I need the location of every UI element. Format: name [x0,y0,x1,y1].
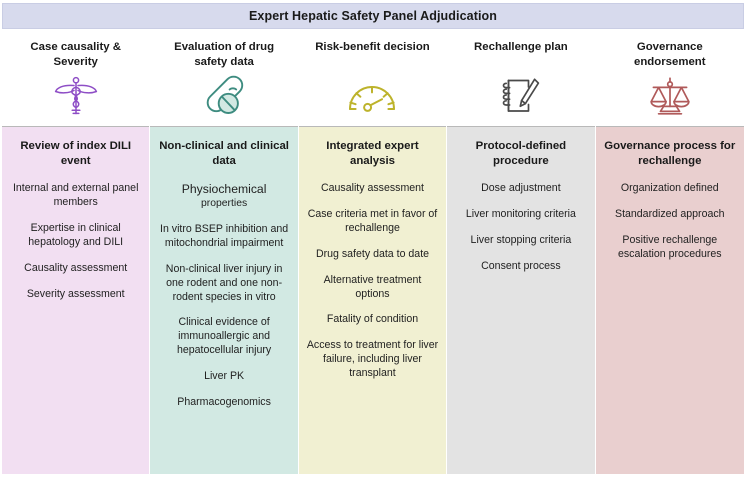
list-item: Pharmacogenomics [175,396,273,410]
column-head-label: Risk-benefit decision [309,40,436,70]
figure-title-band: Expert Hepatic Safety Panel Adjudication [2,3,744,29]
column-subtitle: Non-clinical and clinical data [155,139,292,169]
list-item: Expertise in clinical hepatology and DIL… [7,222,144,250]
column-body-risk-benefit-decision: Integrated expert analysis Causality ass… [299,127,446,474]
column-subtitle: Integrated expert analysis [304,139,441,169]
list-item: In vitro BSEP inhibition and mitochondri… [155,223,292,251]
column-case-causality-severity: Case causality & Severity Review o [2,31,150,474]
list-item: Causality assessment [22,262,129,276]
gauge-icon [345,73,399,119]
list-item: Positive rechallenge escalation procedur… [601,234,739,262]
column-head-label: Case causality & Severity [2,40,149,70]
column-body-governance-endorsement: Governance process for rechallenge Organ… [596,127,744,474]
list-item: Consent process [479,260,563,274]
caduceus-icon [49,73,103,119]
list-item: Internal and external panel members [7,182,144,210]
list-item: properties [199,197,249,211]
list-item: Drug safety data to date [314,248,431,262]
list-item: Causality assessment [319,182,426,196]
list-item: Fatality of condition [325,313,420,327]
column-header-rechallenge-plan: Rechallenge plan [447,31,594,127]
pills-icon [197,73,251,119]
column-body-case-causality-severity: Review of index DILI event Internal and … [2,127,149,474]
list-item: Physiochemical [180,182,269,197]
figure-title: Expert Hepatic Safety Panel Adjudication [249,9,497,23]
column-header-governance-endorsement: Governance endorsement [596,31,744,127]
list-item: Clinical evidence of immunoallergic and … [155,316,292,358]
expert-hepatic-safety-panel-figure: Expert Hepatic Safety Panel Adjudication… [0,0,746,479]
column-header-case-causality-severity: Case causality & Severity [2,31,149,127]
list-item: Severity assessment [25,288,127,302]
column-rechallenge-plan: Rechallenge plan Prot [447,31,595,474]
column-head-label: Governance endorsement [596,40,744,70]
list-item: Liver monitoring criteria [464,208,578,222]
list-item: Liver stopping criteria [469,234,574,248]
column-evaluation-of-drug-safety-data: Evaluation of drug safety data Non-clini… [150,31,298,474]
column-body-evaluation-of-drug-safety-data: Non-clinical and clinical data Physioche… [150,127,297,474]
list-item: Case criteria met in favor of rechalleng… [304,208,441,236]
list-item: Standardized approach [613,208,727,222]
list-item: Liver PK [202,370,246,384]
notepad-pencil-icon [494,73,548,119]
list-item: Non-clinical liver injury in one rodent … [155,263,292,305]
columns-container: Case causality & Severity Review o [2,31,744,474]
column-subtitle: Review of index DILI event [7,139,144,169]
column-risk-benefit-decision: Risk-benefit decision [299,31,447,474]
column-governance-endorsement: Governance endorsement [596,31,744,474]
list-item: Access to treatment for liver failure, i… [304,339,441,381]
column-header-evaluation-of-drug-safety-data: Evaluation of drug safety data [150,31,297,127]
scales-icon [643,73,697,119]
column-body-rechallenge-plan: Protocol-defined procedure Dose adjustme… [447,127,594,474]
column-head-label: Evaluation of drug safety data [150,40,297,70]
column-subtitle: Governance process for rechallenge [601,139,739,169]
column-header-risk-benefit-decision: Risk-benefit decision [299,31,446,127]
list-item: Organization defined [619,182,721,196]
column-subtitle: Protocol-defined procedure [452,139,589,169]
column-head-label: Rechallenge plan [468,40,574,70]
list-item: Dose adjustment [479,182,563,196]
list-item: Alternative treatment options [304,274,441,302]
